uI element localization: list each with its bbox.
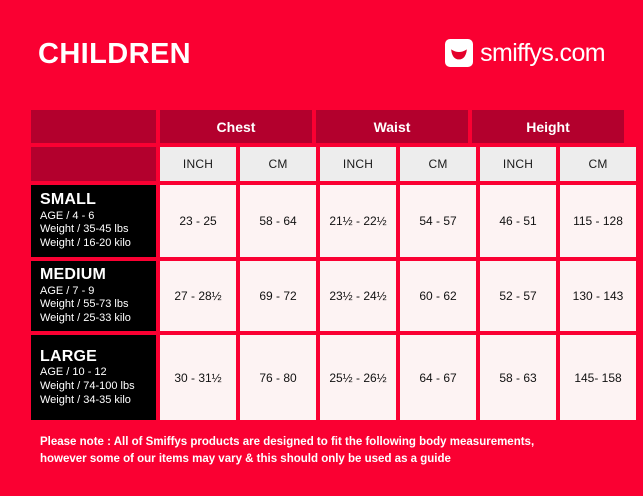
group-header-chest: Chest (160, 110, 312, 143)
value-large-waist-inch: 25½ - 26½ (320, 335, 396, 420)
value-small-waist-cm: 54 - 57 (400, 185, 476, 257)
size-weight-kilo: Weight / 25-33 kilo (40, 312, 131, 326)
table-unit-header-row: INCH CM INCH CM INCH CM (31, 147, 612, 181)
unit-header-chest-inch: INCH (160, 147, 236, 181)
size-table: Chest Waist Height INCH CM INCH CM INCH … (31, 110, 612, 420)
size-age: AGE / 10 - 12 (40, 366, 107, 380)
size-weight-kilo: Weight / 16-20 kilo (40, 237, 131, 251)
group-header-height: Height (472, 110, 624, 143)
unit-header-height-inch: INCH (480, 147, 556, 181)
value-large-height-inch: 58 - 63 (480, 335, 556, 420)
size-weight-lbs: Weight / 55-73 lbs (40, 298, 128, 312)
value-large-waist-cm: 64 - 67 (400, 335, 476, 420)
page-header: CHILDREN smiffys.com (0, 0, 643, 104)
unit-header-chest-cm: CM (240, 147, 316, 181)
size-chart-page: CHILDREN smiffys.com Chest Waist Height (0, 0, 643, 496)
size-weight-kilo: Weight / 34-35 kilo (40, 394, 131, 408)
brand-name: smiffys.com (480, 41, 605, 66)
disclaimer-line-2: however some of our items may vary & thi… (40, 451, 610, 468)
brand-logo: smiffys.com (445, 39, 605, 67)
value-small-chest-cm: 58 - 64 (240, 185, 316, 257)
size-weight-lbs: Weight / 35-45 lbs (40, 223, 128, 237)
size-name: LARGE (40, 348, 97, 366)
size-label-medium: MEDIUM AGE / 7 - 9 Weight / 55-73 lbs We… (31, 261, 156, 331)
unit-header-height-cm: CM (560, 147, 636, 181)
table-corner-bottom (31, 147, 156, 181)
table-row: SMALL AGE / 4 - 6 Weight / 35-45 lbs Wei… (31, 185, 612, 257)
value-medium-chest-inch: 27 - 28½ (160, 261, 236, 331)
size-age: AGE / 4 - 6 (40, 210, 94, 224)
size-label-large: LARGE AGE / 10 - 12 Weight / 74-100 lbs … (31, 335, 156, 420)
table-corner-top (31, 110, 156, 143)
value-medium-waist-cm: 60 - 62 (400, 261, 476, 331)
disclaimer-line-1: Please note : All of Smiffys products ar… (40, 434, 610, 451)
size-weight-lbs: Weight / 74-100 lbs (40, 380, 135, 394)
value-small-chest-inch: 23 - 25 (160, 185, 236, 257)
value-medium-chest-cm: 69 - 72 (240, 261, 316, 331)
unit-header-waist-inch: INCH (320, 147, 396, 181)
table-row: MEDIUM AGE / 7 - 9 Weight / 55-73 lbs We… (31, 261, 612, 331)
value-small-height-inch: 46 - 51 (480, 185, 556, 257)
unit-header-waist-cm: CM (400, 147, 476, 181)
table-row: LARGE AGE / 10 - 12 Weight / 74-100 lbs … (31, 335, 612, 420)
size-name: MEDIUM (40, 266, 106, 284)
value-small-waist-inch: 21½ - 22½ (320, 185, 396, 257)
value-medium-waist-inch: 23½ - 24½ (320, 261, 396, 331)
value-medium-height-inch: 52 - 57 (480, 261, 556, 331)
value-large-chest-cm: 76 - 80 (240, 335, 316, 420)
value-small-height-cm: 115 - 128 (560, 185, 636, 257)
smile-swoosh-icon (445, 39, 473, 67)
page-title: CHILDREN (38, 40, 191, 69)
table-group-header-row: Chest Waist Height (31, 110, 612, 143)
size-age: AGE / 7 - 9 (40, 285, 94, 299)
value-large-height-cm: 145- 158 (560, 335, 636, 420)
size-name: SMALL (40, 191, 96, 209)
group-header-waist: Waist (316, 110, 468, 143)
value-large-chest-inch: 30 - 31½ (160, 335, 236, 420)
disclaimer-note: Please note : All of Smiffys products ar… (40, 434, 610, 467)
value-medium-height-cm: 130 - 143 (560, 261, 636, 331)
size-label-small: SMALL AGE / 4 - 6 Weight / 35-45 lbs Wei… (31, 185, 156, 257)
